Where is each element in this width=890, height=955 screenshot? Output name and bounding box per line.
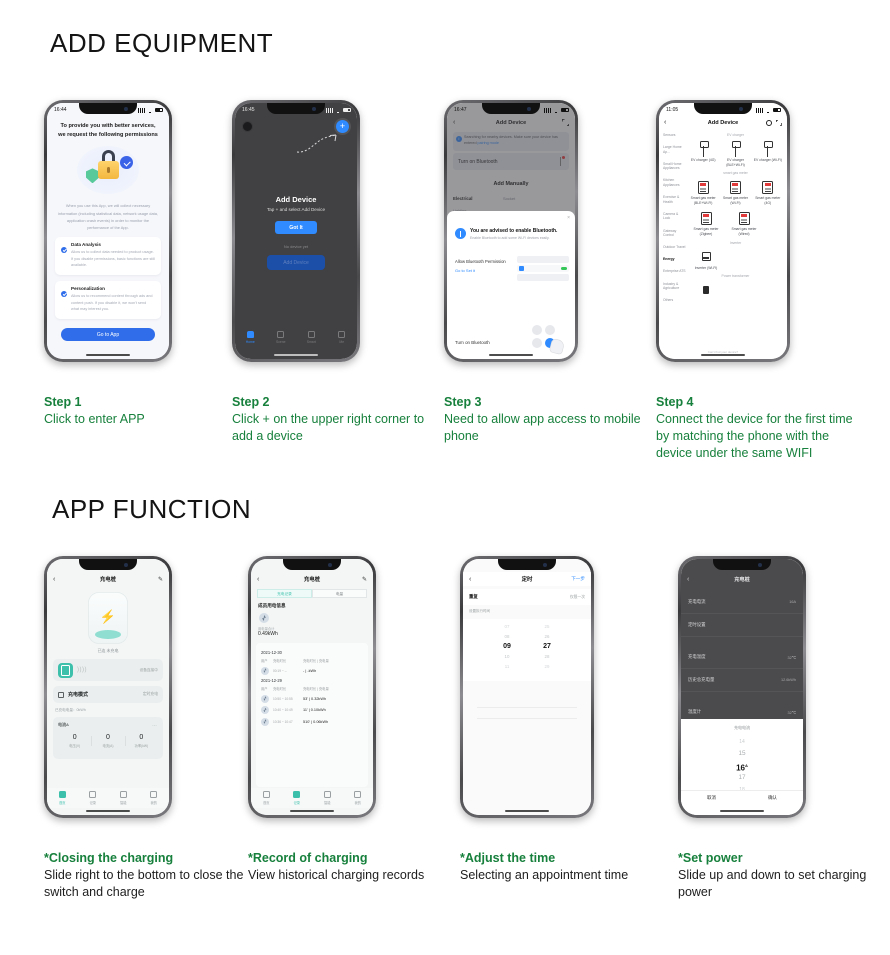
records-column-headers: 用户 充电时长 充电时长 | 充电量 bbox=[261, 658, 363, 663]
status-time: 11:05 bbox=[666, 107, 678, 113]
lock-illustration bbox=[71, 144, 145, 196]
battery-icon bbox=[343, 108, 351, 112]
section-title-app-function: APP FUNCTION bbox=[52, 494, 251, 525]
sheet-actions: 取消 确认 bbox=[681, 790, 803, 804]
power-option-selected[interactable]: 16A bbox=[681, 760, 803, 772]
device-label: Smart gas meter (4G) bbox=[755, 196, 780, 205]
record-value: - | -kWh bbox=[303, 669, 316, 673]
gear-icon bbox=[354, 791, 361, 798]
records-list[interactable]: 2021-12-30 用户 充电时长 充电时长 | 充电量 00:19 ~ --… bbox=[256, 643, 368, 787]
tab-bar: 首页 记录 智能 我的 bbox=[251, 788, 373, 808]
setting-value: 32℃ bbox=[788, 655, 797, 660]
tab-label: 我的 bbox=[151, 801, 157, 805]
gas-meter-icon bbox=[720, 178, 750, 196]
tab-me[interactable]: 我的 bbox=[139, 788, 170, 808]
phone-mockup-charge-records: ‹ 充电桩 ✎ 充电记录 电量 成员用电信息 用电量合计 0.49kWh bbox=[248, 556, 376, 818]
home-icon bbox=[247, 331, 254, 338]
sheet-title: 充电电流 bbox=[681, 719, 803, 731]
tab-me[interactable]: Me bbox=[327, 331, 358, 351]
nav-actions bbox=[766, 120, 782, 126]
metric-value: 0 bbox=[91, 734, 124, 741]
device-item[interactable]: EV charger (BLE+Wi-Fi) bbox=[720, 140, 750, 167]
hour-column[interactable]: 07 08 09 10 11 bbox=[498, 622, 516, 672]
nav-title: 充电桩 bbox=[734, 576, 750, 583]
charger-icon bbox=[58, 663, 73, 678]
tab-label: 记录 bbox=[90, 801, 96, 805]
add-device-button[interactable]: Add Device bbox=[267, 255, 325, 270]
device-label: Smart gas meter (Wired) bbox=[731, 227, 756, 236]
ev-charger-icon bbox=[753, 140, 783, 158]
status-time: 16:45 bbox=[242, 107, 255, 113]
device-row: Smart gas meter (BLE+Wi-Fi) Smart gas me… bbox=[687, 178, 784, 205]
next-step-button[interactable]: 下一步 bbox=[571, 576, 585, 582]
device-catalog-screen: ‹ Add Device Sensors Large Home Ap... Sm… bbox=[659, 103, 787, 359]
device-item[interactable]: Smart gas meter (BLE+Wi-Fi) bbox=[688, 178, 718, 205]
tab-label: 我的 bbox=[355, 801, 361, 805]
device-row: Inverter (Wi-Fi) bbox=[687, 248, 784, 271]
setting-label: 历史总充电量 bbox=[688, 677, 714, 683]
list-spacer bbox=[681, 692, 803, 701]
home-icon bbox=[263, 791, 270, 798]
setting-label: 充电温度 bbox=[688, 654, 706, 660]
back-icon[interactable]: ‹ bbox=[257, 576, 259, 583]
status-time: 16:47 bbox=[454, 107, 467, 113]
step-4-caption: Step 4 Connect the device for the first … bbox=[656, 394, 856, 462]
wifi-icon bbox=[765, 108, 771, 113]
device-row: Smart gas meter (Zigbee) Smart gas meter… bbox=[687, 209, 784, 236]
home-indicator bbox=[86, 354, 130, 357]
set-power-screen: ‹ 充电桩 充电电流16A 定时设置 充电温度32℃ 历史总充电量12.6kWh… bbox=[681, 559, 803, 815]
caption-body: Selecting an appointment time bbox=[460, 867, 660, 884]
phone-notch bbox=[79, 559, 137, 570]
transformer-icon bbox=[691, 281, 721, 299]
lightning-bolt-icon: ⚡ bbox=[100, 610, 116, 623]
column-header: 充电时长 bbox=[273, 658, 303, 663]
bottom-hint-label: Turn on Bluetooth bbox=[455, 340, 490, 345]
hour-option[interactable]: 10 bbox=[498, 652, 516, 662]
record-row[interactable]: 10:50 ~ 10:55 53' | 0.32kWh bbox=[261, 695, 363, 703]
record-date: 2021-12-29 bbox=[261, 678, 363, 683]
charge-mode-value: 定时充电 bbox=[143, 692, 158, 697]
status-icons bbox=[326, 108, 351, 113]
caption-body: View historical charging records bbox=[248, 867, 448, 884]
time-picker[interactable]: 07 08 09 10 11 25 26 27 bbox=[463, 619, 591, 681]
sheet-subtitle: Enable Bluetooth to add some Wi-Fi devic… bbox=[470, 236, 557, 242]
repeat-value: 仅限一次 bbox=[570, 595, 585, 600]
wifi-icon bbox=[335, 108, 341, 113]
tab-label: Scene bbox=[276, 340, 286, 344]
tab-label: Home bbox=[246, 340, 255, 344]
setting-row-temp[interactable]: 充电温度32℃ bbox=[681, 646, 803, 669]
phone-mockup-step4: 11:05 ‹ Add Device bbox=[656, 100, 790, 362]
cellular-toggle-icon bbox=[545, 325, 555, 335]
setting-row-current[interactable]: 充电电流16A bbox=[681, 591, 803, 614]
minute-option[interactable]: 25 bbox=[538, 622, 556, 632]
coachmark-subtitle: Tap + and select Add Device bbox=[235, 207, 357, 212]
home-indicator bbox=[86, 810, 130, 813]
sidebar-item[interactable]: Others bbox=[663, 298, 686, 303]
go-to-settings-link[interactable]: Go to Set it bbox=[455, 268, 506, 273]
function-2-caption: *Record of charging View historical char… bbox=[248, 850, 448, 884]
step-2-cell: 16:45 + bbox=[232, 100, 447, 445]
function-4-cell: ‹ 充电桩 充电电流16A 定时设置 充电温度32℃ 历史总充电量12.6kWh… bbox=[678, 556, 890, 901]
home-indicator bbox=[701, 354, 745, 357]
power-option[interactable]: 15 bbox=[681, 748, 803, 760]
phone-notch bbox=[713, 559, 771, 570]
battery-icon bbox=[155, 108, 163, 112]
caption-heading: *Record of charging bbox=[248, 850, 448, 867]
signal-waves-icon: )))) bbox=[77, 667, 87, 673]
status-icons bbox=[544, 108, 569, 113]
charge-status-label: 已连 未充电 bbox=[47, 648, 169, 654]
curved-arrow-icon bbox=[295, 133, 339, 155]
home-indicator bbox=[290, 810, 334, 813]
signal-icon bbox=[326, 108, 333, 113]
function-1-cell: ‹ 充电桩 ✎ ⚡ 已连 未充电 )))) 设备连接中 bbox=[44, 556, 259, 901]
record-row[interactable]: 00:19 ~ -- - | -kWh bbox=[261, 667, 363, 675]
section-title-add-equipment: ADD EQUIPMENT bbox=[50, 28, 273, 59]
power-picker-sheet: 充电电流 14 15 16A 17 18 取消 确认 bbox=[681, 719, 803, 815]
phone-notch bbox=[482, 103, 540, 114]
inverter-icon bbox=[691, 248, 721, 266]
step-1-caption: Step 1 Click to enter APP bbox=[44, 394, 244, 428]
coachmark-tooltip: Add Device Tap + and select Add Device bbox=[235, 195, 357, 212]
nav-bar: ‹ 定时 下一步 bbox=[463, 572, 591, 586]
column-header: 用户 bbox=[261, 658, 273, 663]
sidebar-item[interactable]: Outdoor Travel bbox=[663, 245, 686, 250]
sidebar-item[interactable]: Sensors bbox=[663, 133, 686, 138]
phone-mockup-step1: 16:44 To provide you with better service… bbox=[44, 100, 172, 362]
caption-body: Click to enter APP bbox=[44, 411, 244, 428]
sidebar-item[interactable]: Industry & Agriculture bbox=[663, 282, 686, 291]
function-2-cell: ‹ 充电桩 ✎ 充电记录 电量 成员用电信息 用电量合计 0.49kWh bbox=[248, 556, 463, 884]
confirm-button[interactable]: 确认 bbox=[742, 795, 803, 801]
control-center-illustration bbox=[532, 325, 565, 351]
record-date: 2021-12-30 bbox=[261, 650, 363, 655]
charge-records-screen: ‹ 充电桩 ✎ 充电记录 电量 成员用电信息 用电量合计 0.49kWh bbox=[251, 559, 373, 815]
caption-body: Slide up and down to set charging power bbox=[678, 867, 878, 901]
sidebar-item[interactable]: Gateway Control bbox=[663, 229, 686, 238]
checkbox-checked-icon[interactable] bbox=[61, 247, 67, 253]
phone-mockup-step2: 16:45 + bbox=[232, 100, 360, 362]
step-1-cell: 16:44 To provide you with better service… bbox=[44, 100, 259, 428]
record-value: 510' | 0.06kWh bbox=[303, 720, 328, 724]
record-row[interactable]: 10:40 ~ 10:49 11' | 0.10kWh bbox=[261, 706, 363, 714]
home-indicator bbox=[505, 810, 549, 813]
device-row: EV charger (4G) EV charger (BLE+Wi-Fi) E… bbox=[687, 140, 784, 167]
cancel-button[interactable]: 取消 bbox=[681, 795, 742, 801]
scan-icon[interactable] bbox=[776, 120, 782, 126]
setting-row-timer[interactable]: 定时设置 bbox=[681, 614, 803, 637]
minute-option[interactable]: 29 bbox=[538, 662, 556, 672]
charge-mode-label: 充电模式 bbox=[68, 691, 88, 698]
permissions-paragraph: When you use this App, we will collect n… bbox=[57, 202, 159, 231]
group-heading: smart gas meter bbox=[687, 171, 784, 175]
bluetooth-setting-icon bbox=[519, 266, 524, 271]
back-icon[interactable]: ‹ bbox=[469, 576, 471, 583]
minute-option[interactable]: 26 bbox=[538, 632, 556, 642]
close-icon[interactable]: × bbox=[567, 215, 570, 221]
system-settings-preview bbox=[517, 256, 569, 283]
record-time: 10:36 ~ 10:47 bbox=[273, 720, 303, 724]
metrics-title: 电流A bbox=[58, 722, 69, 728]
caption-heading: *Set power bbox=[678, 850, 878, 867]
metric-value: 0 bbox=[125, 734, 158, 741]
battery-icon bbox=[561, 108, 569, 112]
tab-smart[interactable]: Smart bbox=[296, 331, 327, 351]
ev-charger-icon bbox=[720, 140, 750, 158]
home-indicator bbox=[489, 354, 533, 357]
nav-bar: ‹ 充电桩 ✎ bbox=[251, 572, 373, 586]
profile-icon bbox=[338, 331, 345, 338]
wifi-icon bbox=[553, 108, 559, 113]
function-3-cell: ‹ 定时 下一步 重复 仅限一次 设置执行时间 07 bbox=[460, 556, 675, 884]
caption-body: Connect the device for the first time by… bbox=[656, 411, 856, 462]
record-row[interactable]: 10:36 ~ 10:47 510' | 0.06kWh bbox=[261, 718, 363, 726]
lock-icon bbox=[98, 161, 119, 179]
segment-energy[interactable]: 电量 bbox=[312, 589, 367, 598]
user-avatar-icon bbox=[261, 667, 269, 675]
hour-selected[interactable]: 09 bbox=[498, 642, 516, 652]
sidebar-item[interactable]: Camera & Lock bbox=[663, 212, 686, 221]
record-value: 53' | 0.32kWh bbox=[303, 697, 326, 701]
connection-status: 设备连接中 bbox=[140, 668, 158, 673]
segmented-control: 充电记录 电量 bbox=[257, 589, 367, 598]
tab-records[interactable]: 记录 bbox=[78, 788, 109, 808]
sidebar-item[interactable]: Enterprise ATS bbox=[663, 269, 686, 274]
gas-meter-icon bbox=[753, 178, 783, 196]
back-icon[interactable]: ‹ bbox=[687, 576, 689, 583]
function-3-caption: *Adjust the time Selecting an appointmen… bbox=[460, 850, 660, 884]
signal-icon bbox=[138, 108, 145, 113]
column-header: 充电时长 | 充电量 bbox=[303, 658, 363, 663]
tab-bar: Home Scene Smart Me bbox=[235, 331, 357, 351]
phone-notch bbox=[694, 103, 752, 114]
tab-label: 首页 bbox=[59, 801, 65, 805]
charge-level-indicator bbox=[95, 630, 121, 639]
tab-records[interactable]: 记录 bbox=[282, 788, 313, 808]
setting-value: 12.6kWh bbox=[781, 678, 796, 682]
checkbox-checked-icon[interactable] bbox=[61, 291, 67, 297]
gas-meter-icon bbox=[729, 209, 759, 227]
tab-bar: 首页 记录 智能 我的 bbox=[47, 788, 169, 808]
setting-row-total[interactable]: 历史总充电量12.6kWh bbox=[681, 669, 803, 692]
metric-label: 功率(kW) bbox=[125, 743, 158, 748]
phone-mockup-timer: ‹ 定时 下一步 重复 仅限一次 设置执行时间 07 bbox=[460, 556, 594, 818]
phone-mockup-power-picker: ‹ 充电桩 充电电流16A 定时设置 充电温度32℃ 历史总充电量12.6kWh… bbox=[678, 556, 806, 818]
sidebar-item[interactable]: Exercise & Health bbox=[663, 195, 686, 204]
hour-option[interactable]: 11 bbox=[498, 662, 516, 672]
smart-icon bbox=[324, 791, 331, 798]
tab-me[interactable]: 我的 bbox=[343, 788, 374, 808]
tab-label: 首页 bbox=[263, 801, 269, 805]
status-icons bbox=[756, 108, 781, 113]
energy-icon bbox=[259, 613, 269, 623]
metric-label: 电流(A) bbox=[91, 743, 124, 748]
device-item[interactable]: Smart gas meter (Wired) bbox=[729, 209, 759, 236]
caption-heading: *Adjust the time bbox=[460, 850, 660, 867]
caption-body: Slide right to the bottom to close the s… bbox=[44, 867, 244, 901]
gas-meter-icon bbox=[691, 209, 721, 227]
permission-card-body: Allow us to recommend content through ad… bbox=[71, 293, 155, 313]
group-heading: Power transformer bbox=[687, 274, 784, 278]
group-heading: EV charger bbox=[687, 133, 784, 137]
tab-smart[interactable]: 智能 bbox=[108, 788, 139, 808]
metric-value: 0 bbox=[58, 734, 91, 741]
tab-home[interactable]: 首页 bbox=[47, 788, 78, 808]
got-it-button[interactable]: Got It bbox=[275, 221, 317, 234]
device-item[interactable]: EV charger (Wi-Fi) bbox=[753, 140, 783, 167]
sidebar-item[interactable]: Small Home Appliances bbox=[663, 162, 686, 171]
charged-amount-label: 已充电电量：0kWh bbox=[55, 708, 86, 713]
coachmark-title: Add Device bbox=[235, 195, 357, 204]
caption-body: Need to allow app access to mobile phone bbox=[444, 411, 644, 445]
timer-screen: ‹ 定时 下一步 重复 仅限一次 设置执行时间 07 bbox=[463, 559, 591, 815]
device-item[interactable] bbox=[691, 281, 721, 299]
group-heading: Inverter bbox=[687, 241, 784, 245]
poster-page: ADD EQUIPMENT APP FUNCTION 16:44 bbox=[0, 0, 890, 955]
permission-label: Allow Bluetooth Permission bbox=[455, 259, 506, 266]
sidebar-item[interactable]: Large Home Ap... bbox=[663, 145, 686, 154]
permission-card-data-analysis[interactable]: Data Analysis Allow us to collect data n… bbox=[55, 237, 161, 275]
power-options-list[interactable]: 14 15 16A 17 18 bbox=[681, 736, 803, 796]
user-avatar-icon bbox=[261, 695, 269, 703]
record-time: 10:40 ~ 10:49 bbox=[273, 708, 303, 712]
device-label: EV charger (Wi-Fi) bbox=[754, 158, 782, 162]
metric-voltage: 0电压(V) bbox=[58, 734, 91, 748]
power-option[interactable]: 17 bbox=[681, 772, 803, 784]
device-item[interactable]: Smart gas meter (Zigbee) bbox=[691, 209, 721, 236]
add-device-bluetooth-screen: ‹ Add Device i Searching for nearby devi… bbox=[447, 103, 575, 359]
sidebar-item-active[interactable]: Energy bbox=[663, 257, 686, 262]
nav-title: 定时 bbox=[522, 575, 533, 583]
segment-records[interactable]: 充电记录 bbox=[257, 589, 312, 598]
tab-smart[interactable]: 智能 bbox=[312, 788, 343, 808]
sidebar-item[interactable]: Kitchen Appliances bbox=[663, 178, 686, 187]
setting-value: 16A bbox=[789, 600, 796, 604]
phone-notch bbox=[79, 103, 137, 114]
hour-option[interactable]: 08 bbox=[498, 632, 516, 642]
charge-tube-illustration: ⚡ bbox=[88, 592, 128, 644]
tab-label: 智能 bbox=[324, 801, 330, 805]
phone-mockup-step3: 16:47 ‹ Add Device bbox=[444, 100, 578, 362]
step-3-cell: 16:47 ‹ Add Device bbox=[444, 100, 659, 445]
tab-scene[interactable]: Scene bbox=[266, 331, 297, 351]
records-icon bbox=[293, 791, 300, 798]
home-icon bbox=[59, 791, 66, 798]
minute-column[interactable]: 25 26 27 28 29 bbox=[538, 622, 556, 672]
go-to-app-button[interactable]: Go to App bbox=[61, 328, 155, 341]
nav-bar: ‹ 充电桩 bbox=[681, 572, 803, 586]
smart-icon bbox=[308, 331, 315, 338]
ev-charger-icon bbox=[688, 140, 718, 158]
metrics-card: 电流A … 0电压(V) 0电流(A) 0功率(kW) bbox=[53, 717, 163, 759]
power-option[interactable]: 14 bbox=[681, 736, 803, 748]
record-time: 10:50 ~ 10:55 bbox=[273, 697, 303, 701]
device-label: Smart gas meter (Zigbee) bbox=[693, 227, 718, 236]
device-item[interactable]: EV charger (4G) bbox=[688, 140, 718, 167]
nav-bar: ‹ 充电桩 ✎ bbox=[47, 572, 169, 586]
nav-bar: ‹ Add Device bbox=[659, 116, 787, 129]
repeat-label: 重复 bbox=[469, 594, 478, 600]
metric-current: 0电流(A) bbox=[91, 734, 124, 748]
record-value: 11' | 0.10kWh bbox=[303, 708, 326, 712]
records-icon bbox=[89, 791, 96, 798]
step-4-cell: 11:05 ‹ Add Device bbox=[656, 100, 871, 462]
tab-label: Me bbox=[339, 340, 344, 344]
device-label: EV charger (BLE+Wi-Fi) bbox=[726, 158, 745, 167]
wifi-icon bbox=[147, 108, 153, 113]
tab-label: Smart bbox=[307, 340, 316, 344]
nav-title: 充电桩 bbox=[100, 575, 116, 583]
phone-mockup-charger-home: ‹ 充电桩 ✎ ⚡ 已连 未充电 )))) 设备连接中 bbox=[44, 556, 172, 818]
caption-heading: Step 4 bbox=[656, 394, 856, 411]
repeat-row[interactable]: 重复 仅限一次 bbox=[463, 589, 591, 605]
picker-section-label: 设置执行时间 bbox=[469, 609, 490, 614]
gas-meter-icon bbox=[688, 178, 718, 196]
device-row bbox=[687, 281, 784, 299]
tab-home[interactable]: Home bbox=[235, 331, 266, 351]
picker-selection-band bbox=[477, 707, 577, 719]
edit-icon[interactable]: ✎ bbox=[158, 576, 163, 583]
function-1-caption: *Closing the charging Slide right to the… bbox=[44, 850, 244, 901]
caption-heading: *Closing the charging bbox=[44, 850, 244, 867]
column-header: 充电时长 bbox=[273, 686, 303, 691]
function-4-caption: *Set power Slide up and down to set char… bbox=[678, 850, 878, 901]
tab-label: 智能 bbox=[120, 801, 126, 805]
edit-icon[interactable]: ✎ bbox=[362, 576, 367, 583]
tab-label: 记录 bbox=[294, 801, 300, 805]
charge-mode-row[interactable]: 充电模式 定时充电 bbox=[53, 686, 163, 703]
phone-notch bbox=[283, 559, 341, 570]
permissions-screen: To provide you with better services, we … bbox=[47, 103, 169, 359]
tab-home[interactable]: 首页 bbox=[251, 788, 282, 808]
device-item[interactable]: Smart gas meter (Wi-Fi) bbox=[720, 178, 750, 205]
add-plus-button[interactable]: + bbox=[336, 120, 349, 133]
caption-heading: Step 2 bbox=[232, 394, 432, 411]
more-options-icon[interactable]: … bbox=[152, 724, 158, 726]
signal-icon bbox=[756, 108, 763, 113]
setting-label: 定时设置 bbox=[688, 622, 706, 628]
phone-notch bbox=[267, 103, 325, 114]
back-icon[interactable]: ‹ bbox=[664, 119, 666, 126]
device-item[interactable]: Inverter (Wi-Fi) bbox=[691, 248, 721, 271]
permission-card-body: Allow us to collect data needed to produ… bbox=[71, 249, 155, 269]
category-sidebar: Sensors Large Home Ap... Small Home Appl… bbox=[663, 133, 686, 310]
hand-cursor-icon bbox=[550, 339, 565, 355]
gear-icon[interactable] bbox=[766, 120, 772, 126]
summary-value: 0.49kWh bbox=[258, 631, 278, 637]
avatar[interactable] bbox=[242, 121, 253, 132]
permission-card-personalization[interactable]: Personalization Allow us to recommend co… bbox=[55, 281, 161, 319]
column-header: 充电时长 | 充电量 bbox=[303, 686, 363, 691]
bluetooth-bottom-sheet: × You are advised to enable Bluetooth. E… bbox=[447, 211, 575, 359]
hour-option[interactable]: 07 bbox=[498, 622, 516, 632]
sheet-title: You are advised to enable Bluetooth. bbox=[470, 228, 557, 234]
caption-heading: Step 3 bbox=[444, 394, 644, 411]
minute-selected[interactable]: 27 bbox=[538, 642, 556, 652]
minute-option[interactable]: 28 bbox=[538, 652, 556, 662]
home-indicator bbox=[274, 354, 318, 357]
device-status-card[interactable]: )))) 设备连接中 bbox=[53, 659, 163, 681]
device-label: Smart gas meter (Wi-Fi) bbox=[723, 196, 748, 205]
permission-card-title: Data Analysis bbox=[71, 242, 155, 247]
add-device-coachmark-screen: 16:45 + bbox=[235, 103, 357, 359]
device-item[interactable]: Smart gas meter (4G) bbox=[753, 178, 783, 205]
back-icon[interactable]: ‹ bbox=[53, 576, 55, 583]
column-header: 用户 bbox=[261, 686, 273, 691]
setting-label: 充电电流 bbox=[688, 599, 706, 605]
